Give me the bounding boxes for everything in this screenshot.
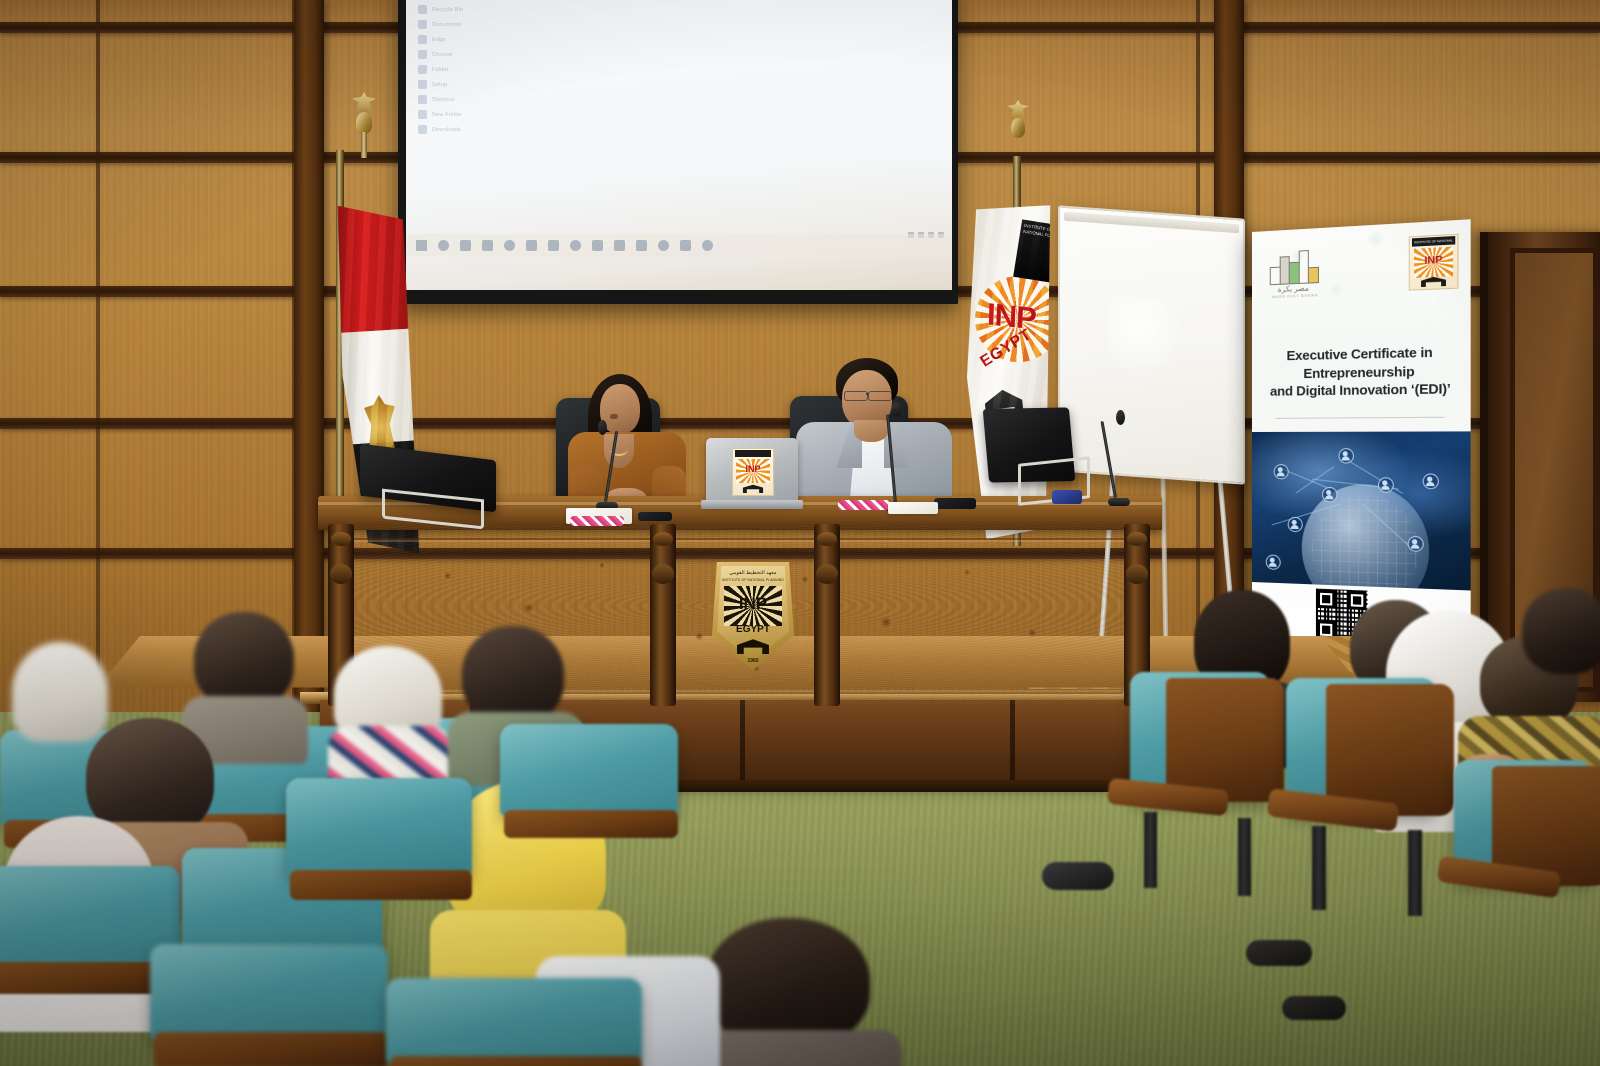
- downloads-icon: [418, 125, 427, 134]
- desktop-icon[interactable]: New Folder: [418, 110, 538, 119]
- flag-finial-eagle-icon: [1001, 100, 1035, 162]
- emblem-header-text: INSTITUTE OF NATIONAL PLANNING: [715, 578, 791, 582]
- new-folder-icon: [418, 110, 427, 119]
- board-glare: [1108, 295, 1185, 379]
- emblem-country: EGYPT: [712, 624, 794, 635]
- inp-arch-icon: [739, 484, 767, 493]
- desktop-icon[interactable]: Recycle Bin: [418, 5, 538, 14]
- shoe: [1282, 996, 1346, 1020]
- desktop-icon[interactable]: Shortcut: [418, 95, 538, 104]
- teams-icon[interactable]: [658, 240, 669, 251]
- phone-right[interactable]: [934, 498, 976, 509]
- screen-surface: This PC Recycle Bin Documents Edge Chrom…: [406, 0, 952, 290]
- masr-digital-bokra-logo: مصر بكرة MASR DIGT BOKRA: [1268, 246, 1328, 299]
- laptop-lid: INP: [706, 438, 798, 504]
- shoe: [1246, 940, 1312, 966]
- zoom-icon[interactable]: [680, 240, 691, 251]
- laptop-inp-sticker: INP: [732, 448, 774, 496]
- glasses-bridge: [866, 393, 869, 395]
- mail-icon[interactable]: [526, 240, 537, 251]
- user-node-icon: [1274, 464, 1289, 479]
- eyeglasses: [868, 391, 892, 401]
- chrome-icon: [418, 50, 427, 59]
- user-node-icon: [1423, 473, 1439, 489]
- seat-row3-2[interactable]: [386, 978, 656, 1066]
- stapler[interactable]: [1052, 490, 1082, 504]
- explorer-icon[interactable]: [482, 240, 493, 251]
- task-view-icon[interactable]: [460, 240, 471, 251]
- banner-divider: [1276, 417, 1445, 419]
- desktop-icon[interactable]: Folder: [418, 65, 538, 74]
- conference-hall-photo: This PC Recycle Bin Documents Edge Chrom…: [0, 0, 1600, 1066]
- start-icon[interactable]: [416, 240, 427, 251]
- pink-item-right[interactable]: [838, 500, 890, 510]
- mouth: [610, 414, 618, 419]
- powerpoint-icon[interactable]: [614, 240, 625, 251]
- papers-right[interactable]: [888, 502, 938, 514]
- desktop-icon[interactable]: Setup: [418, 80, 538, 89]
- phone-left[interactable]: [638, 512, 672, 521]
- desk-column: [650, 524, 676, 706]
- taskbar[interactable]: [406, 234, 952, 256]
- user-node-icon: [1408, 536, 1424, 552]
- attendee-back-3: [330, 646, 450, 776]
- laptop[interactable]: INP: [706, 438, 798, 510]
- desktop-icon-list: This PC Recycle Bin Documents Edge Chrom…: [418, 0, 538, 140]
- word-icon[interactable]: [570, 240, 581, 251]
- edge-icon: [418, 35, 427, 44]
- excel-icon[interactable]: [592, 240, 603, 251]
- flag-finial-eagle-icon: [344, 92, 384, 158]
- desktop-icon[interactable]: Documents: [418, 20, 538, 29]
- shoe: [1042, 862, 1114, 890]
- pink-item-left[interactable]: [570, 516, 624, 526]
- banner-title: Executive Certificate in Entrepreneurshi…: [1252, 342, 1471, 401]
- inp-logo-wordmark: INP: [1410, 254, 1458, 268]
- shortcut-icon: [418, 95, 427, 104]
- seat-row3-1[interactable]: [150, 944, 400, 1066]
- desktop-icon[interactable]: Downloads: [418, 125, 538, 134]
- attendee-right-5: [1512, 588, 1600, 708]
- user-node-icon: [1266, 554, 1281, 570]
- desktop-icon[interactable]: Edge: [418, 35, 538, 44]
- user-node-icon: [1378, 477, 1394, 493]
- seat-right-3[interactable]: [1438, 760, 1600, 1000]
- emblem-wordmark: INP: [712, 594, 794, 614]
- user-node-icon: [1338, 448, 1354, 463]
- banner-network-graphic: [1252, 431, 1471, 590]
- edge-icon[interactable]: [504, 240, 515, 251]
- monitor-left: [360, 452, 510, 524]
- monitor-right: [986, 408, 1096, 508]
- settings-icon[interactable]: [702, 240, 713, 251]
- eyeglasses: [844, 391, 868, 401]
- recycle-bin-icon: [418, 5, 427, 14]
- user-node-icon: [1322, 487, 1337, 503]
- setup-icon: [418, 80, 427, 89]
- search-icon[interactable]: [438, 240, 449, 251]
- chrome-icon[interactable]: [636, 240, 647, 251]
- flipchart-clip: [1064, 212, 1239, 234]
- sticker-wordmark: INP: [733, 464, 773, 474]
- neck: [854, 420, 888, 442]
- desk-column: [814, 524, 840, 706]
- banner-inp-logo: INSTITUTE OF NATIONAL PLANNING INP: [1409, 234, 1459, 291]
- seat-row2-3[interactable]: [286, 778, 486, 928]
- emblem-arabic-text: معهد التخطيط القومي: [712, 570, 794, 576]
- projection-screen: This PC Recycle Bin Documents Edge Chrom…: [398, 0, 958, 304]
- folder-icon: [418, 65, 427, 74]
- banner-title-line-3: and Digital Innovation ‘(EDI)’: [1259, 380, 1463, 401]
- seat-row1-center[interactable]: [500, 724, 690, 864]
- wall-joint: [96, 0, 100, 720]
- inp-logo-header: INSTITUTE OF NATIONAL PLANNING: [1412, 236, 1455, 247]
- documents-icon: [418, 20, 427, 29]
- store-icon[interactable]: [548, 240, 559, 251]
- laptop-base: [701, 500, 803, 509]
- user-node-icon: [1288, 517, 1303, 533]
- desktop-icon[interactable]: Chrome: [418, 50, 538, 59]
